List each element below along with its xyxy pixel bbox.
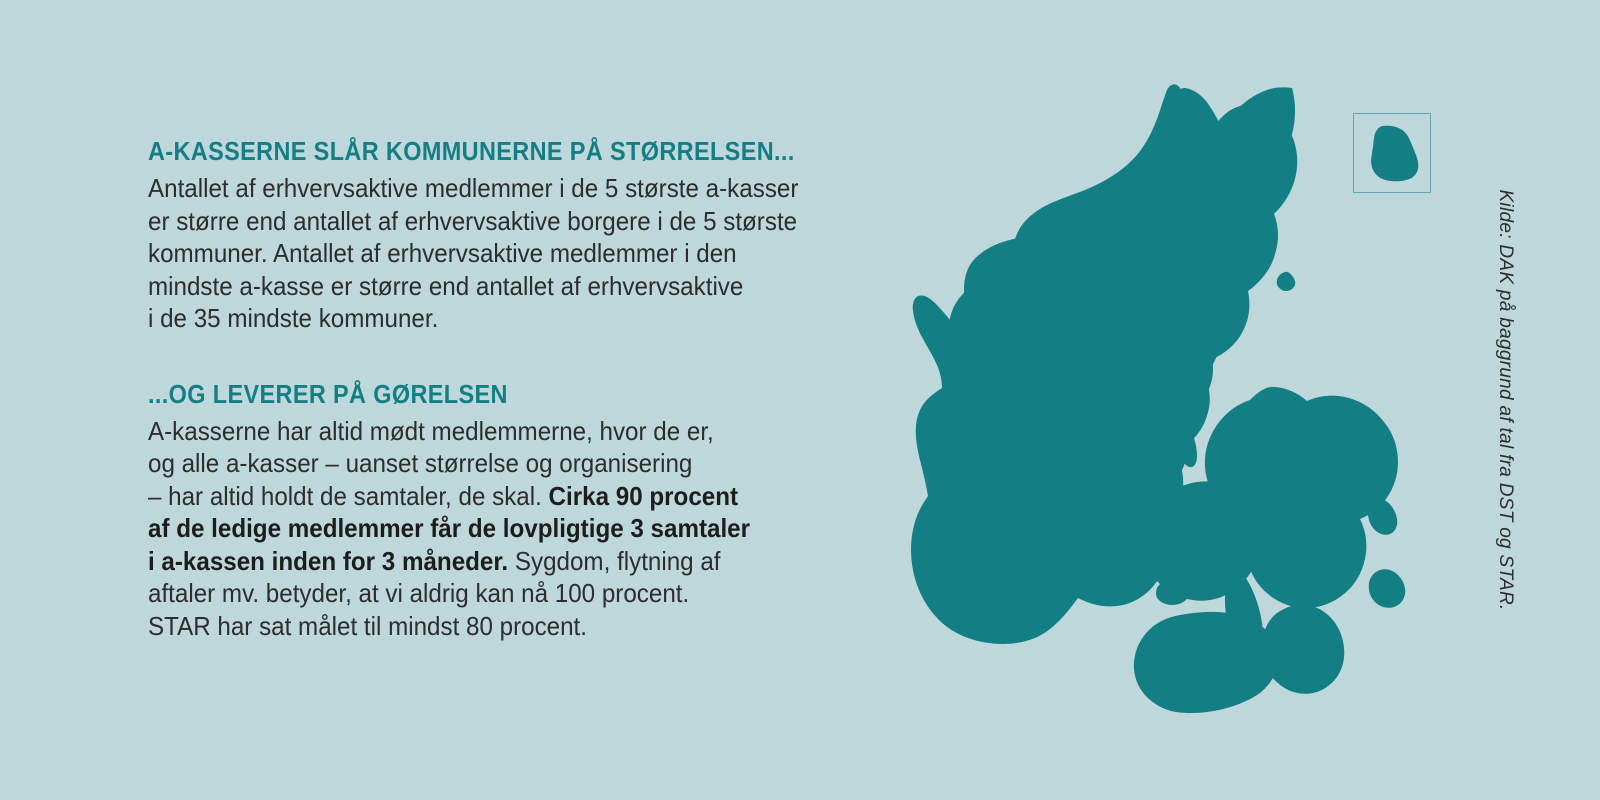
body-line: kommuner. Antallet af erhvervsaktive med… [148,237,855,270]
body-line: er større end antallet af erhvervsaktive… [148,205,855,238]
body-span: A-kasserne har altid mødt medlemmerne, h… [148,416,714,446]
block-body-size: Antallet af erhvervsaktive medlemmer i d… [148,172,855,335]
body-span: i de 35 mindste kommuner. [148,303,438,333]
body-span: og alle a-kasser – uanset størrelse og o… [148,448,692,478]
body-line: Antallet af erhvervsaktive medlemmer i d… [148,172,855,205]
body-line: – har altid holdt de samtaler, de skal. … [148,480,855,513]
body-span: STAR har sat målet til mindst 80 procent… [148,611,587,641]
bornholm-island-shape [1371,126,1418,182]
text-column: A-KASSERNE SLÅR KOMMUNERNE PÅ STØRRELSEN… [148,138,908,642]
block-heading-size: A-KASSERNE SLÅR KOMMUNERNE PÅ STØRRELSEN… [148,138,847,166]
text-block-delivery: ...OG LEVERER PÅ GØRELSEN A-kasserne har… [148,381,908,643]
body-span: Antallet af erhvervsaktive medlemmer i d… [148,173,798,203]
body-line: aftaler mv. betyder, at vi aldrig kan nå… [148,577,855,610]
infographic-canvas: A-KASSERNE SLÅR KOMMUNERNE PÅ STØRRELSEN… [0,0,1600,800]
body-span-emphasis: i a-kassen inden for 3 måneder. [148,546,508,576]
body-span: mindste a-kasse er større end antallet a… [148,271,743,301]
body-span: kommuner. Antallet af erhvervsaktive med… [148,238,737,268]
bornholm-inset-box [1353,113,1431,193]
body-line: STAR har sat målet til mindst 80 procent… [148,610,855,643]
body-span: aftaler mv. betyder, at vi aldrig kan nå… [148,578,689,608]
body-line: mindste a-kasse er større end antallet a… [148,270,855,303]
body-line: af de ledige medlemmer får de lovpligtig… [148,512,855,545]
body-span: Sygdom, flytning af [508,546,720,576]
text-block-size: A-KASSERNE SLÅR KOMMUNERNE PÅ STØRRELSEN… [148,138,908,335]
body-span-emphasis: af de ledige medlemmer får de lovpligtig… [148,513,750,543]
body-line: A-kasserne har altid mødt medlemmerne, h… [148,415,855,448]
body-span-emphasis: Cirka 90 procent [549,481,738,511]
body-span: – har altid holdt de samtaler, de skal. [148,481,549,511]
block-body-delivery: A-kasserne har altid mødt medlemmerne, h… [148,415,855,643]
body-line: og alle a-kasser – uanset størrelse og o… [148,447,855,480]
body-line: i a-kassen inden for 3 måneder. Sygdom, … [148,545,855,578]
body-line: i de 35 mindste kommuner. [148,302,855,335]
block-heading-delivery: ...OG LEVERER PÅ GØRELSEN [148,381,847,409]
source-credit: Kilde: DAK på baggrund af tal fra DST og… [1494,189,1516,610]
body-span: er større end antallet af erhvervsaktive… [148,206,797,236]
